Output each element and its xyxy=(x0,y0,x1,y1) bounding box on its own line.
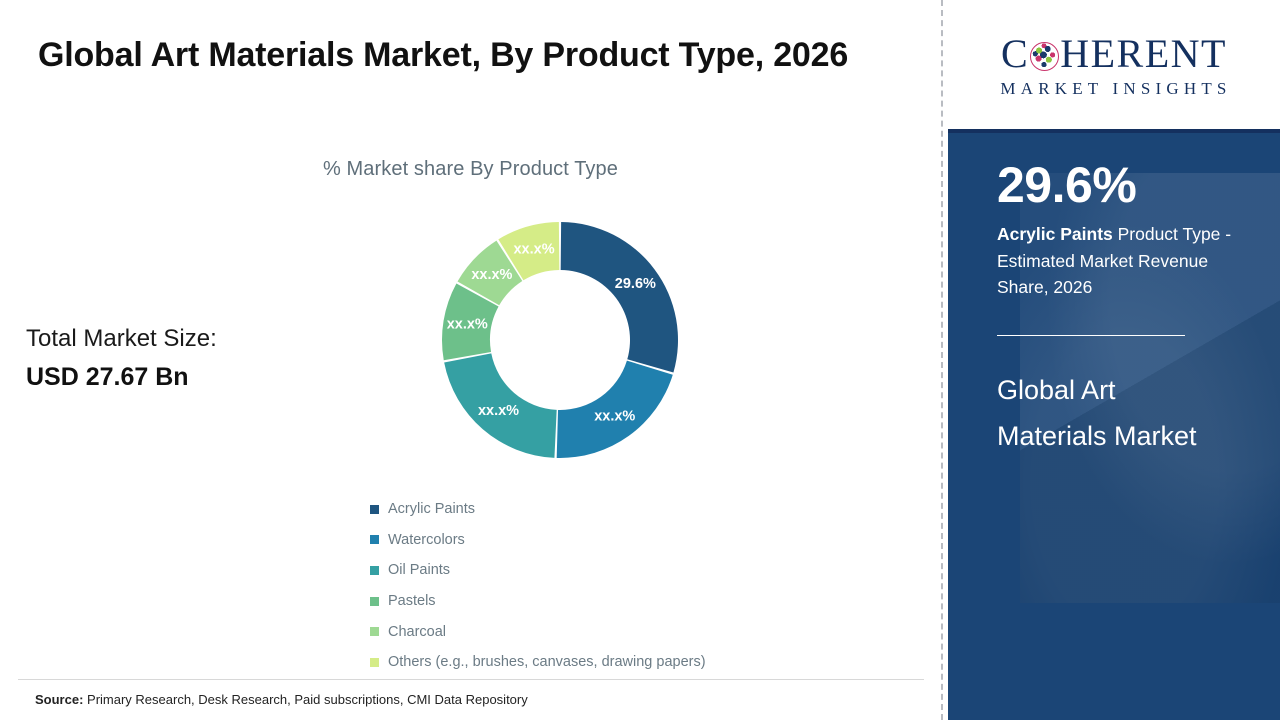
source-line: Source: Primary Research, Desk Research,… xyxy=(35,692,528,707)
legend-item-label: Oil Paints xyxy=(388,562,450,578)
page-title: Global Art Materials Market, By Product … xyxy=(38,30,878,82)
source-text: Primary Research, Desk Research, Paid su… xyxy=(87,692,528,707)
brand-wordmark-c: C xyxy=(1001,34,1029,74)
donut-slice-label: 29.6% xyxy=(615,276,656,292)
brand-logo: C HERENT MARKET INSIGHTS xyxy=(948,0,1280,133)
globe-icon xyxy=(1030,42,1059,71)
donut-slice-label: xx.x% xyxy=(447,317,488,333)
legend-item-label: Acrylic Paints xyxy=(388,501,475,517)
legend-item[interactable]: Watercolors xyxy=(370,525,890,556)
footer-divider xyxy=(18,679,924,680)
donut-chart-svg: 29.6%xx.x%xx.x%xx.x%xx.x%xx.x% xyxy=(440,220,680,460)
legend-item-label: Pastels xyxy=(388,593,436,609)
stat-value: 29.6% xyxy=(997,158,1246,212)
legend-item[interactable]: Oil Paints xyxy=(370,555,890,586)
brand-logo-inner: C HERENT MARKET INSIGHTS xyxy=(996,34,1231,99)
legend-item[interactable]: Pastels xyxy=(370,586,890,617)
brand-tagline: MARKET INSIGHTS xyxy=(996,79,1231,99)
infographic-page: Global Art Materials Market, By Product … xyxy=(0,0,1280,720)
brand-wordmark: C HERENT xyxy=(996,34,1231,74)
donut-slice xyxy=(561,222,678,373)
panel-separator xyxy=(941,0,943,720)
stat-description: Acrylic Paints Product Type - Estimated … xyxy=(997,221,1246,301)
legend-swatch-icon xyxy=(370,597,379,606)
stat-divider xyxy=(997,335,1185,337)
donut-chart: 29.6%xx.x%xx.x%xx.x%xx.x%xx.x% xyxy=(440,220,680,460)
chart-subtitle: % Market share By Product Type xyxy=(0,158,941,181)
right-sidebar-panel: C HERENT MARKET INSIGHTS 29.6% Acrylic P… xyxy=(948,0,1280,720)
donut-slice-label: xx.x% xyxy=(478,403,519,419)
chart-legend: Acrylic PaintsWatercolorsOil PaintsPaste… xyxy=(370,494,890,678)
highlight-stat-panel: 29.6% Acrylic Paints Product Type - Esti… xyxy=(948,133,1280,720)
source-label: Source: xyxy=(35,692,83,707)
legend-swatch-icon xyxy=(370,566,379,575)
legend-item-label: Others (e.g., brushes, canvases, drawing… xyxy=(388,654,706,670)
legend-item-label: Watercolors xyxy=(388,532,465,548)
legend-item[interactable]: Acrylic Paints xyxy=(370,494,890,525)
donut-slice-label: xx.x% xyxy=(594,408,635,424)
brand-wordmark-rest: HERENT xyxy=(1060,34,1227,74)
left-content-panel: Global Art Materials Market, By Product … xyxy=(0,0,941,720)
total-market-size-block: Total Market Size: USD 27.67 Bn xyxy=(26,322,356,395)
donut-slice-label: xx.x% xyxy=(513,242,554,258)
legend-swatch-icon xyxy=(370,505,379,514)
legend-item-label: Charcoal xyxy=(388,624,446,640)
total-market-size-value: USD 27.67 Bn xyxy=(26,359,356,395)
legend-swatch-icon xyxy=(370,535,379,544)
market-name: Global Art Materials Market xyxy=(997,368,1197,459)
stat-panel-content: 29.6% Acrylic Paints Product Type - Esti… xyxy=(948,133,1280,459)
stat-description-highlight: Acrylic Paints xyxy=(997,224,1113,244)
legend-item[interactable]: Others (e.g., brushes, canvases, drawing… xyxy=(370,647,890,678)
donut-slice-label: xx.x% xyxy=(471,267,512,283)
legend-item[interactable]: Charcoal xyxy=(370,616,890,647)
legend-swatch-icon xyxy=(370,627,379,636)
total-market-size-label: Total Market Size: xyxy=(26,322,356,357)
donut-slice-group xyxy=(442,222,678,458)
legend-swatch-icon xyxy=(370,658,379,667)
